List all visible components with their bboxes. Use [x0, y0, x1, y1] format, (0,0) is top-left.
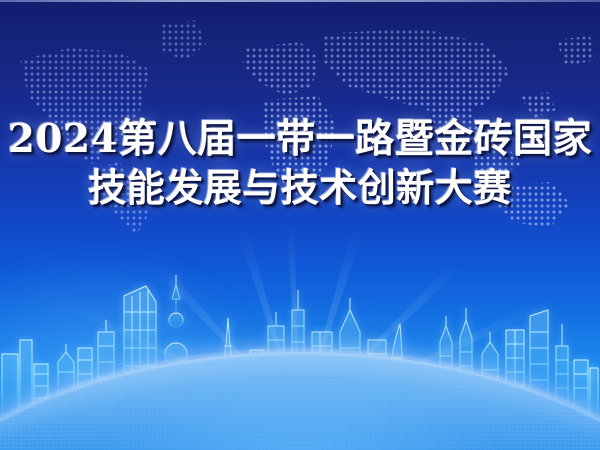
- title-line-2: 技能发展与技术创新大赛: [0, 167, 600, 208]
- poster-title: 2024第八届一带一路暨金砖国家 技能发展与技术创新大赛: [0, 118, 600, 208]
- globe-texture: [0, 352, 600, 450]
- globe-surface: [0, 352, 600, 450]
- title-line-1: 2024第八届一带一路暨金砖国家: [0, 118, 600, 160]
- poster-canvas: 2024第八届一带一路暨金砖国家 技能发展与技术创新大赛: [0, 0, 600, 450]
